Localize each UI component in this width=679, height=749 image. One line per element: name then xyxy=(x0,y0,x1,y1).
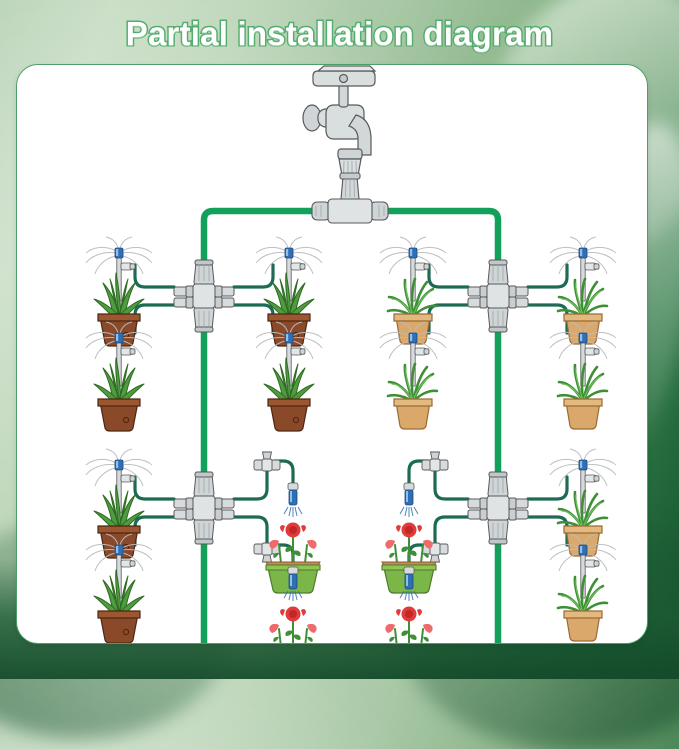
plant-unit-top-left-2 xyxy=(86,322,152,431)
spider-pot-top-mid-right-2 xyxy=(388,364,437,429)
plant-unit-top-mid-right-2 xyxy=(380,322,446,429)
manifold-bottom-left[interactable] xyxy=(174,472,234,544)
plant-unit-top-left-1 xyxy=(86,237,152,346)
rose-window-box-4 xyxy=(382,607,436,644)
dripper-box-1[interactable] xyxy=(284,483,302,517)
manifold-top-left[interactable] xyxy=(174,260,234,332)
page-title: Partial installation diagram xyxy=(126,15,553,53)
spider-pot-bottom-right-2 xyxy=(558,576,607,641)
plant-unit-bottom-left-2 xyxy=(86,534,152,643)
plant-unit-top-mid-left-2 xyxy=(256,322,322,431)
tee-fitting-1[interactable] xyxy=(254,452,280,471)
dripper-box-3[interactable] xyxy=(400,483,418,517)
plant-unit-bottom-right-2 xyxy=(550,534,616,641)
plant-unit-bottom-left-1 xyxy=(86,449,152,558)
tee-splitter xyxy=(312,173,388,223)
plant-unit-top-mid-left-1 xyxy=(256,237,322,346)
spider-pot-top-right-2 xyxy=(558,364,607,429)
diagram-card xyxy=(16,64,648,644)
page-title-container: Partial installation diagram xyxy=(0,8,679,60)
mainline-tubing xyxy=(204,183,498,643)
plant-unit-top-right-1 xyxy=(550,237,616,344)
plant-unit-top-mid-right-1 xyxy=(380,237,446,344)
manifold-top-right[interactable] xyxy=(468,260,528,332)
tee-fitting-3[interactable] xyxy=(422,452,448,471)
faucet-assembly xyxy=(303,66,388,223)
rose-window-box-2 xyxy=(266,607,320,644)
manifold-bottom-right[interactable] xyxy=(468,472,528,544)
plant-unit-top-right-2 xyxy=(550,322,616,429)
plant-unit-bottom-right-1 xyxy=(550,449,616,556)
